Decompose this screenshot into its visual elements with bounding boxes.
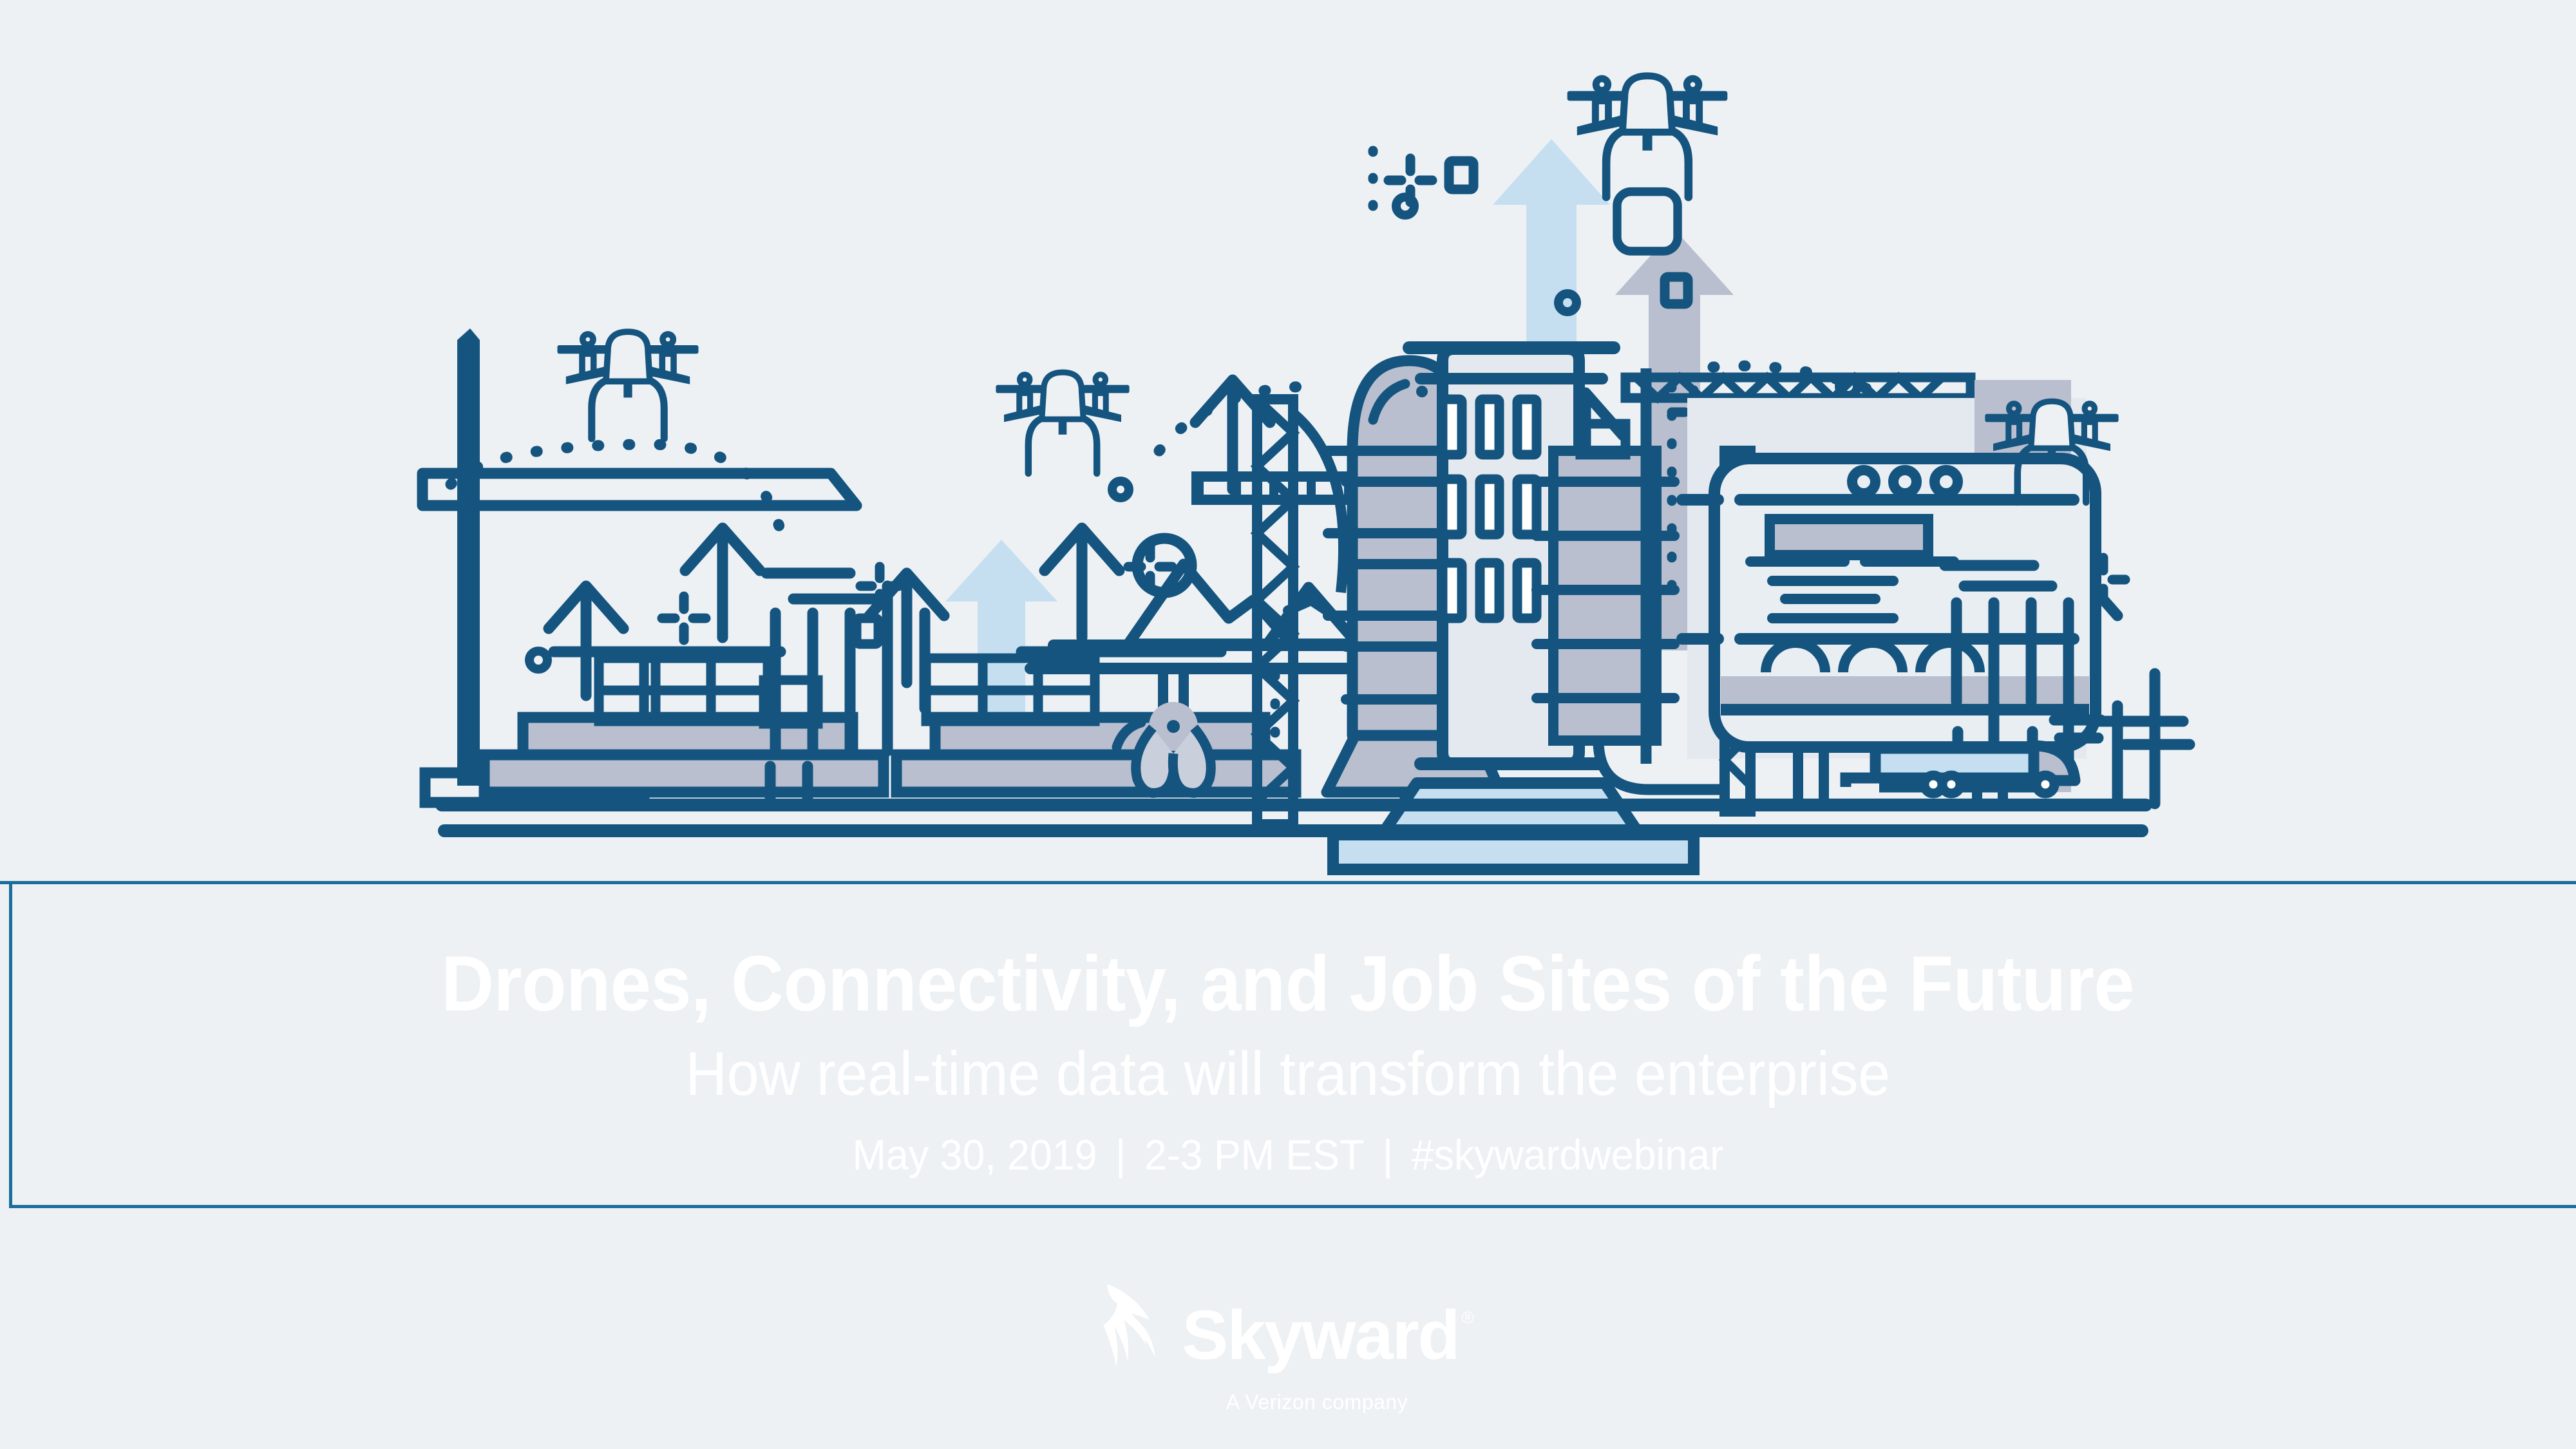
webinar-hashtag: #skywardwebinar xyxy=(1412,1133,1723,1176)
delivery-package xyxy=(1617,192,1678,251)
verizon-tagline: A Verizon company xyxy=(1226,1390,1408,1414)
window-field xyxy=(1770,519,1928,555)
webinar-date: May 30, 2019 xyxy=(853,1133,1097,1176)
registered-trademark-mark: ® xyxy=(1462,1309,1474,1326)
page-subtitle: How real-time data will transform the en… xyxy=(686,1043,1891,1105)
webinar-time: 2-3 PM EST xyxy=(1144,1133,1364,1176)
job-site-illustration xyxy=(0,0,2576,881)
hero-illustration-area xyxy=(0,0,2576,881)
skyward-wordmark: Skyward xyxy=(1182,1300,1459,1370)
skyward-hummingbird-icon xyxy=(1102,1280,1173,1380)
skyward-logo-lockup: Skyward ® A Verizon company xyxy=(1102,1280,1473,1414)
meta-separator-1: | xyxy=(1097,1133,1144,1176)
page-title: Drones, Connectivity, and Job Sites of t… xyxy=(441,944,2134,1023)
meta-separator-2: | xyxy=(1364,1133,1411,1176)
webinar-meta-line: May 30, 2019 | 2-3 PM EST | #skywardwebi… xyxy=(853,1133,1723,1176)
